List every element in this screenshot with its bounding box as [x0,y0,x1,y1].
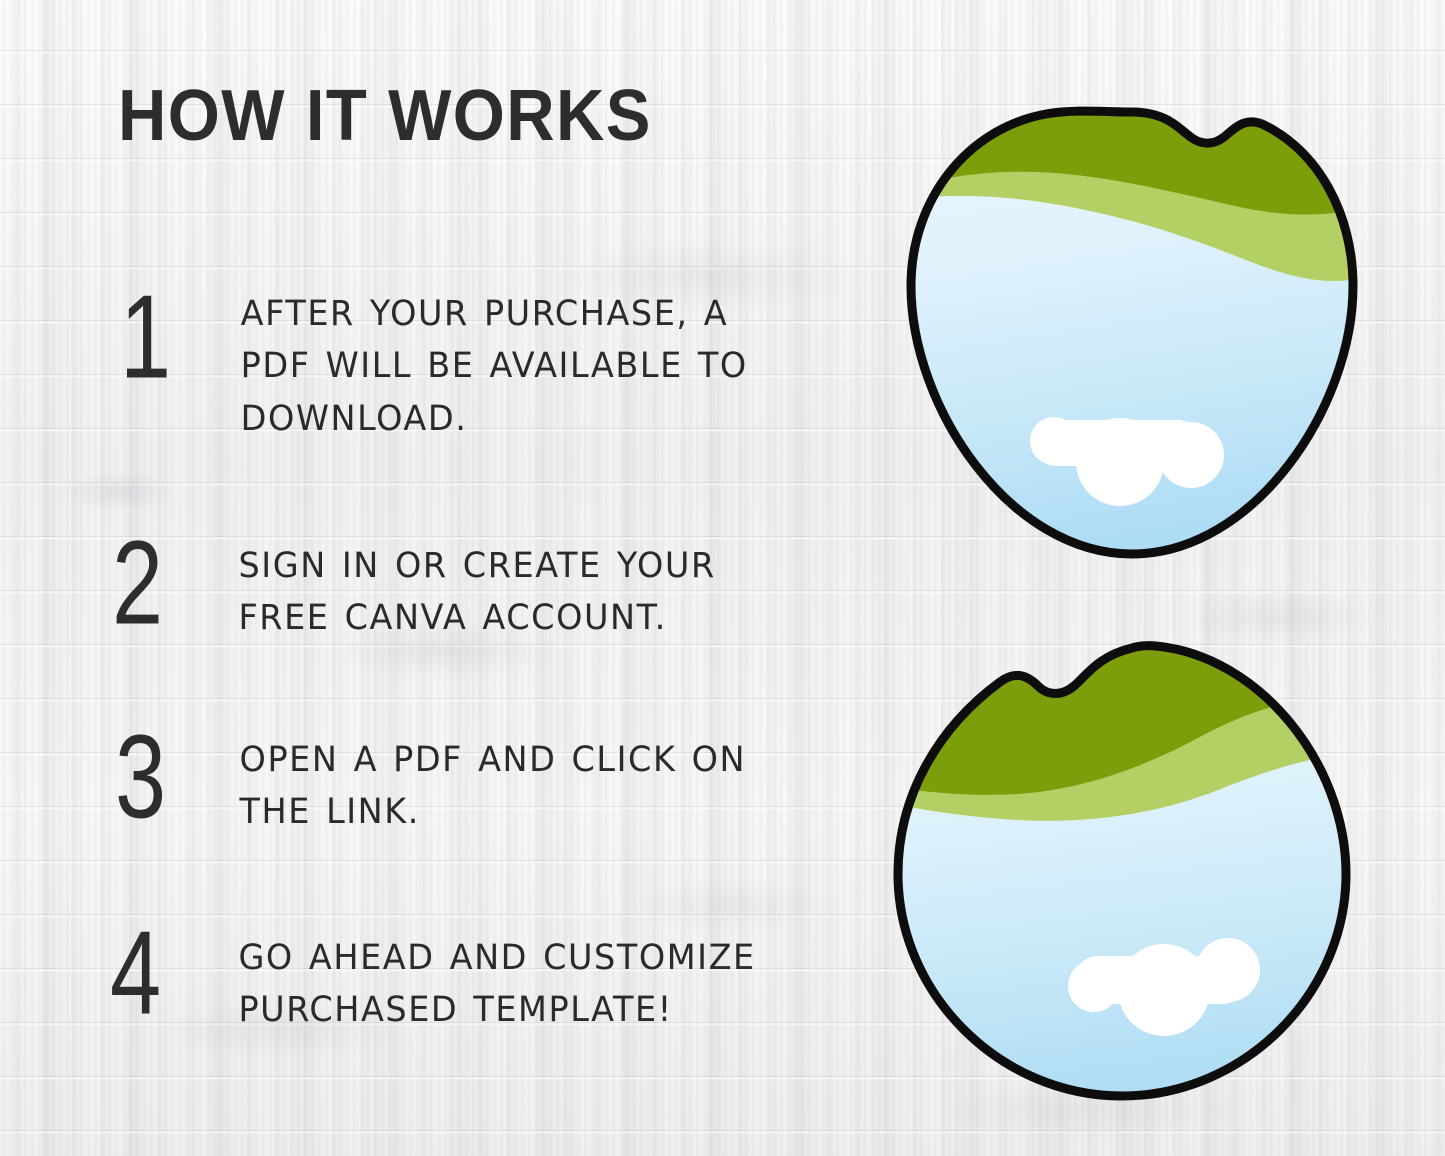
step-number-3: 3 [115,722,179,831]
coaster-inner-art-bottom [888,634,1356,1104]
coaster-illustration-bottom [888,634,1356,1104]
step-item-2: 2 Sign in or create your free Canva acco… [112,528,780,645]
step-text-1: After your purchase, a PDF will be avail… [198,282,784,445]
step-text-4: Go ahead and customize purchased templat… [188,918,796,1037]
coaster-inner-art-top [906,104,1358,562]
coaster-illustration-top [906,104,1358,562]
step-item-4: 4 Go ahead and customize purchased templ… [110,918,815,1037]
step-text-2: Sign in or create your free Canva accoun… [190,528,762,645]
step-number-2: 2 [112,528,176,637]
step-item-1: 1 After your purchase, a PDF will be ava… [120,282,802,445]
step-number-4: 4 [110,918,174,1027]
step-item-3: 3 Open a PDF and click on the link. [115,722,801,839]
page-title: HOW IT WORKS [118,80,652,152]
step-number-1: 1 [120,282,184,391]
step-text-3: Open a PDF and click on the link. [193,722,783,839]
